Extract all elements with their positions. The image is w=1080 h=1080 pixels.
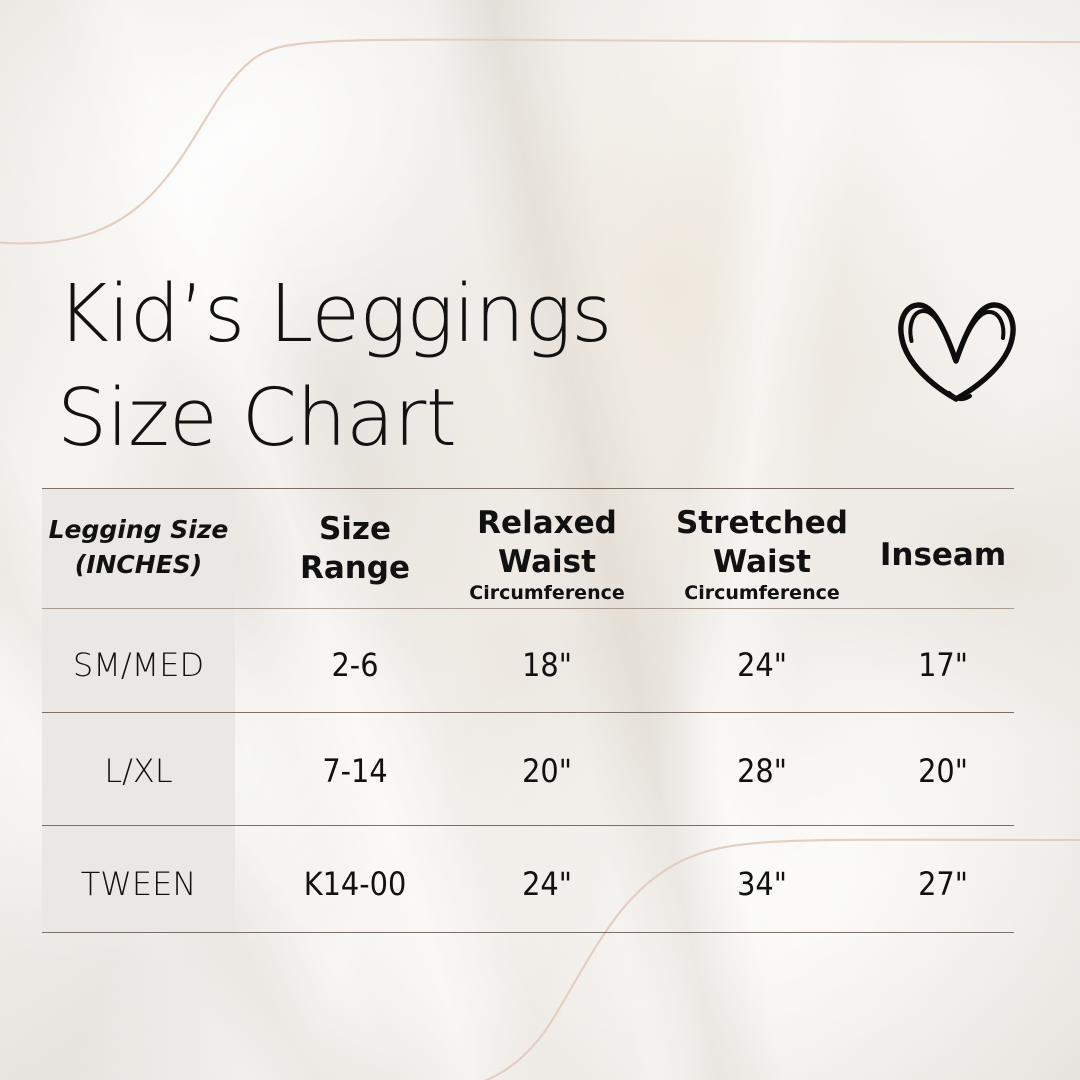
heart-icon [893,283,1023,405]
column-header-size-range: Size Range [259,510,451,588]
cell-relaxed-waist-row3: 24" [447,865,647,903]
table-rule-row1-bottom [42,712,1014,713]
cell-inseam-row2: 20" [872,752,1014,790]
cell-size-range-row2: 7-14 [259,752,451,790]
column-header-relaxed-waist-label: Relaxed [447,504,647,543]
column-header-inseam: Inseam [872,536,1014,575]
column-header-stretched-waist-note: Circumference [662,581,862,606]
table-row: SM/MED [42,646,235,684]
size-chart-page: Kid’s Leggings Size Chart Legging Size (… [0,0,1080,1080]
column-header-stretched-waist-label: Stretched [662,504,862,543]
column-header-size-range-sublabel: Range [259,549,451,588]
cell-inseam-row1: 17" [872,646,1014,684]
page-title: Kid’s Leggings Size Chart [57,262,697,470]
cell-legging-size-row1: SM/MED [73,646,204,684]
table-rule-bottom [42,932,1014,933]
title-line-1: Kid’s Leggings [57,262,697,366]
cell-size-range-row1: 2-6 [259,646,451,684]
cell-size-range-row3: K14-00 [259,865,451,903]
cell-legging-size-row3: TWEEN [81,865,197,903]
cell-legging-size-row2: L/XL [104,752,172,790]
table-rule-row2-bottom [42,825,1014,826]
table-row: TWEEN [42,865,235,903]
column-header-relaxed-waist: Relaxed Waist Circumference [447,504,647,606]
size-chart-table: Legging Size (INCHES) Size Range Relaxed… [42,488,1014,934]
column-header-stretched-waist: Stretched Waist Circumference [662,504,862,606]
table-rule-header-bottom [42,608,1014,609]
cell-relaxed-waist-row1: 18" [447,646,647,684]
column-header-legging-size: Legging Size (INCHES) [42,512,235,582]
table-row: L/XL [42,752,235,790]
cell-inseam-row3: 27" [872,865,1014,903]
column-header-inseam-label: Inseam [872,536,1014,575]
title-line-2: Size Chart [57,366,697,470]
cell-stretched-waist-row2: 28" [662,752,862,790]
column-header-legging-size-label: Legging Size [42,512,235,547]
column-header-stretched-waist-sublabel: Waist [662,543,862,582]
column-header-relaxed-waist-sublabel: Waist [447,543,647,582]
table-rule-top [42,488,1014,489]
cell-stretched-waist-row1: 24" [662,646,862,684]
cell-stretched-waist-row3: 34" [662,865,862,903]
column-header-size-range-label: Size [259,510,451,549]
column-header-relaxed-waist-note: Circumference [447,581,647,606]
cell-relaxed-waist-row2: 20" [447,752,647,790]
column-header-legging-size-sublabel: (INCHES) [42,547,235,582]
